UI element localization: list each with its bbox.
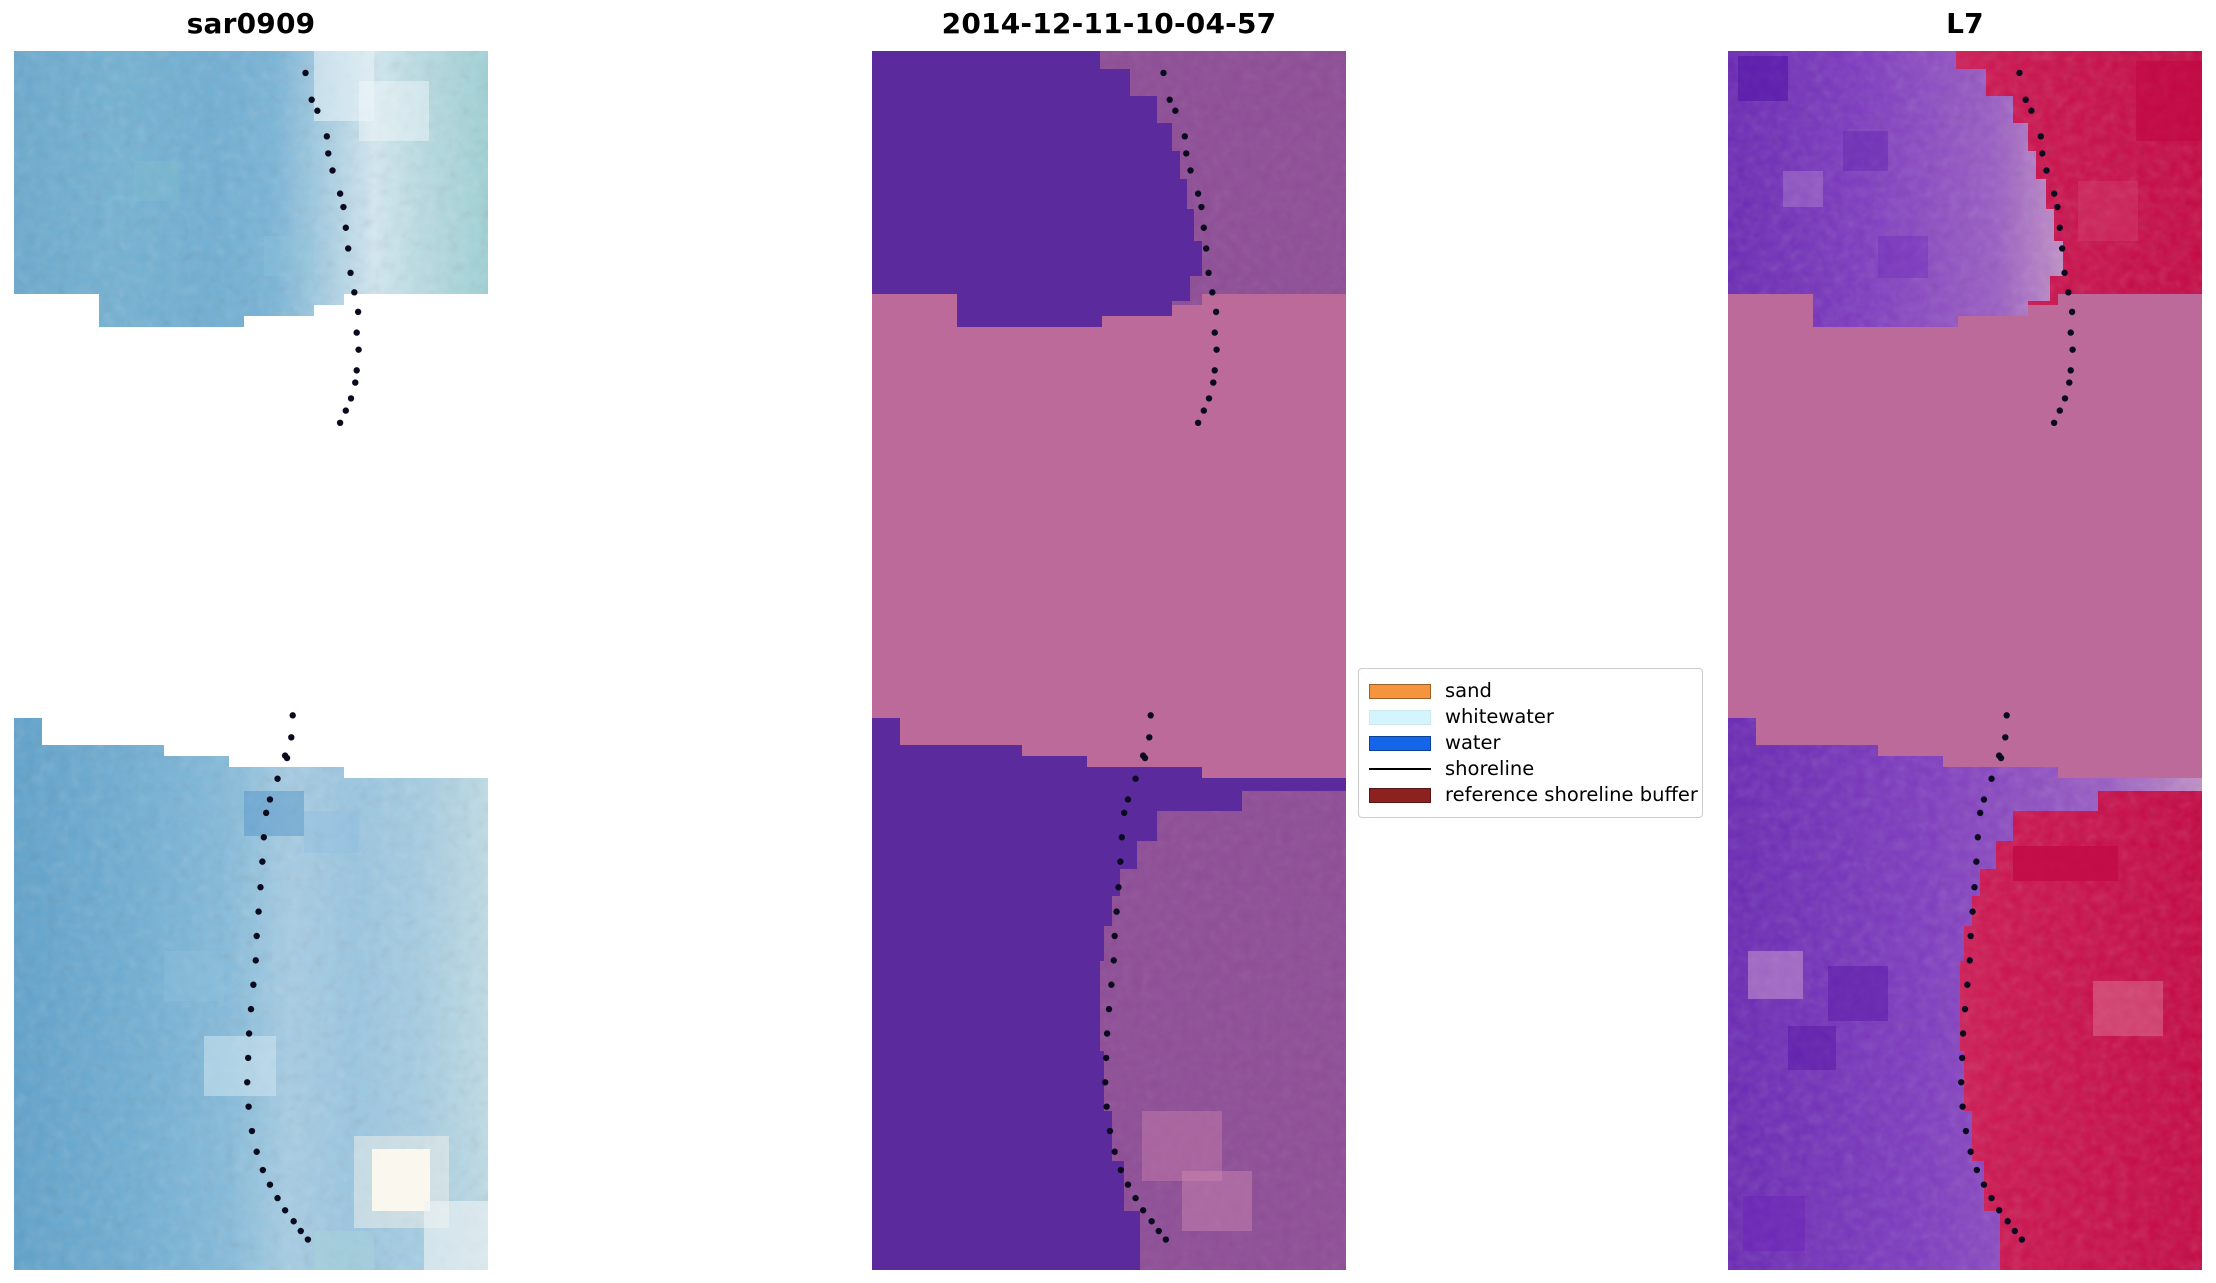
legend-item-whitewater: whitewater [1369, 704, 1690, 730]
legend-label-whitewater: whitewater [1445, 707, 1554, 727]
classified-lower-tile [872, 711, 1346, 1270]
legend-item-water: water [1369, 730, 1690, 756]
legend-item-reference-buffer: reference shoreline buffer [1369, 782, 1690, 808]
legend-swatch-whitewater [1369, 710, 1431, 725]
sar-raster [14, 51, 488, 1270]
sar-lower-tile [14, 711, 488, 1270]
legend-item-shoreline: shoreline [1369, 756, 1690, 782]
image-panel-classified[interactable] [872, 51, 1346, 1270]
legend-label-sand: sand [1445, 681, 1492, 701]
legend-swatch-sand [1369, 684, 1431, 699]
panel-title-classified: 2014-12-11-10-04-57 [872, 7, 1346, 40]
sar-upper-tile [14, 51, 488, 341]
image-panel-l7[interactable] [1728, 51, 2202, 1270]
legend-swatch-reference-buffer [1369, 788, 1431, 803]
panel-title-l7: L7 [1728, 7, 2202, 40]
l7-lower-tile [1728, 711, 2202, 1270]
image-panel-sar[interactable] [14, 51, 488, 1270]
legend-swatch-shoreline [1369, 768, 1431, 770]
legend-label-water: water [1445, 733, 1501, 753]
legend-label-reference-buffer: reference shoreline buffer [1445, 785, 1698, 805]
classified-raster [872, 51, 1346, 1270]
legend-label-shoreline: shoreline [1445, 759, 1534, 779]
panel-title-sar: sar0909 [14, 7, 488, 40]
legend-swatch-water [1369, 736, 1431, 751]
l7-raster [1728, 51, 2202, 1270]
legend-item-sand: sand [1369, 678, 1690, 704]
legend: sand whitewater water shoreline referenc… [1358, 668, 1703, 818]
